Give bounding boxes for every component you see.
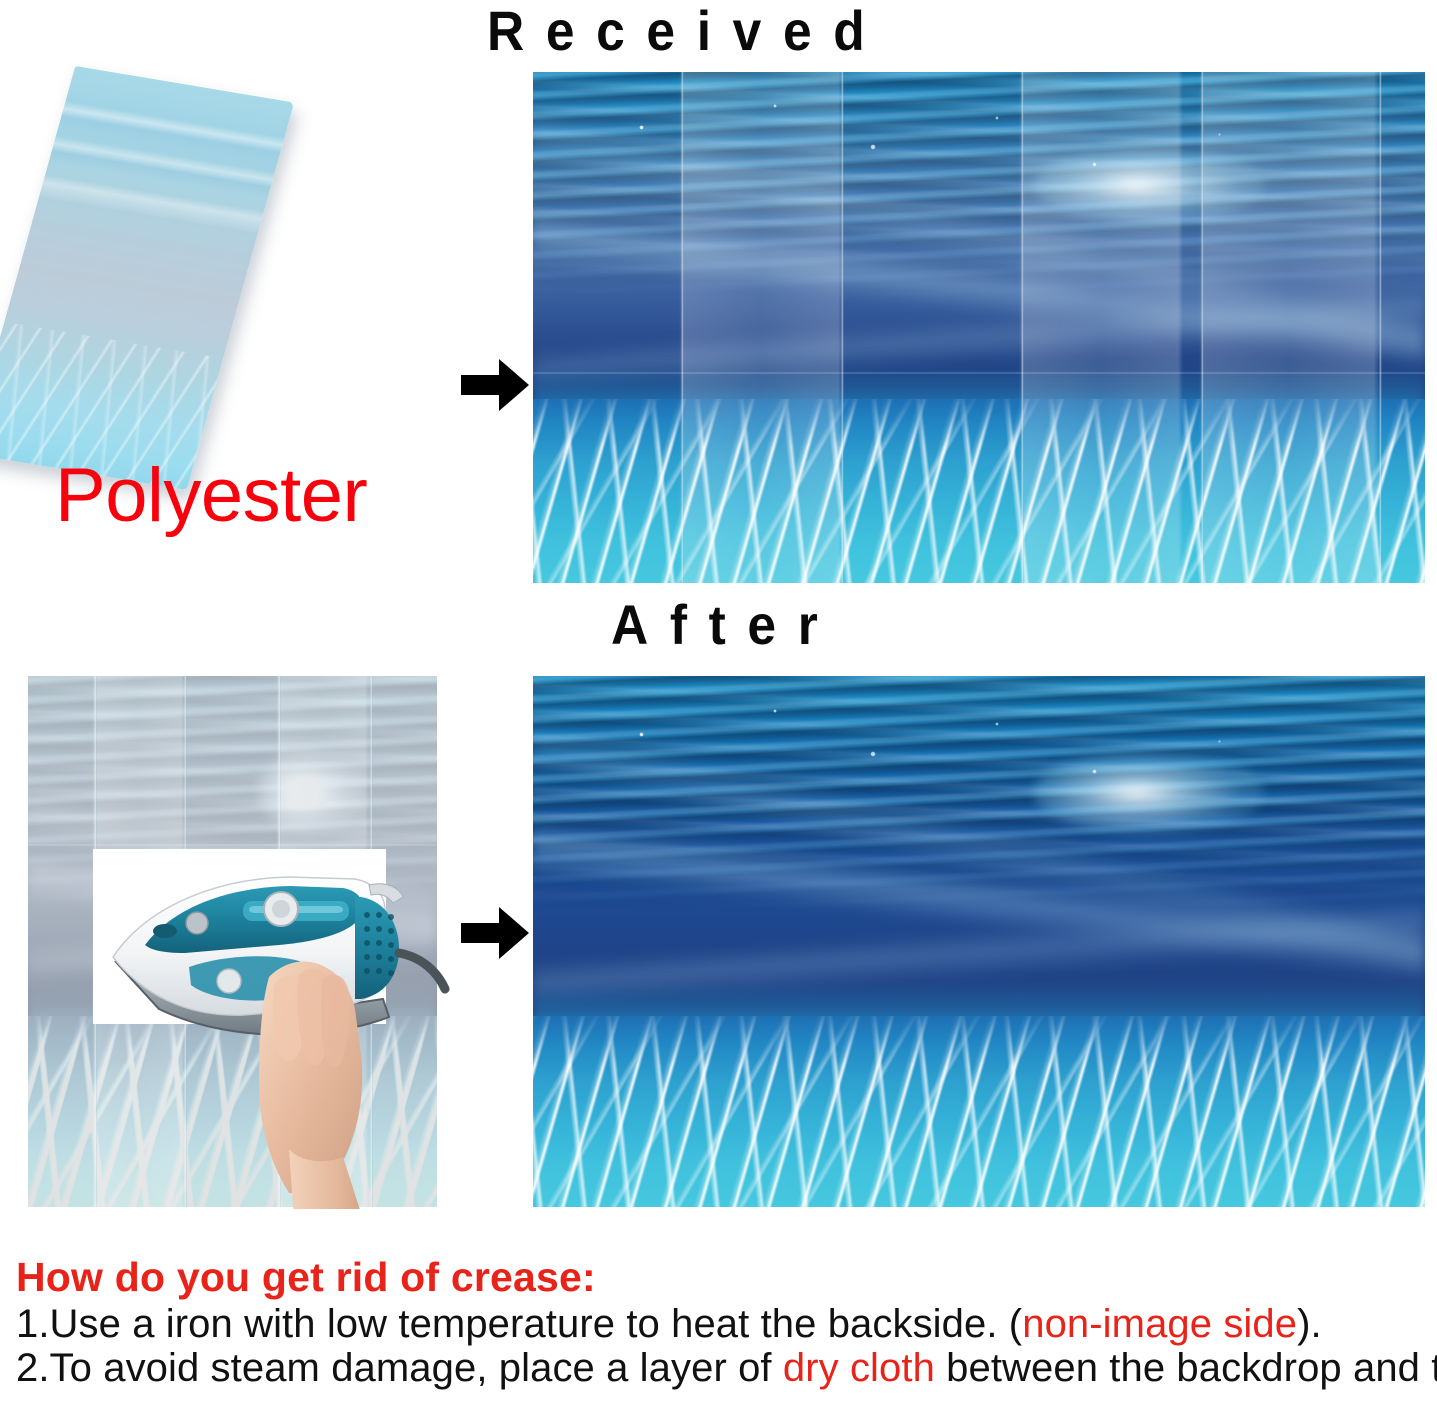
arrow-right-icon (461, 357, 529, 418)
heading-received: Received (487, 0, 886, 64)
instructions-heading: How do you get rid of crease: (16, 1252, 1428, 1302)
care-instructions: How do you get rid of crease: 1.Use a ir… (16, 1252, 1428, 1390)
received-backdrop-photo (533, 72, 1425, 583)
caustic-light-pattern (533, 399, 1425, 583)
instruction-line-2: 2.To avoid steam damage, place a layer o… (16, 1346, 1428, 1390)
bubbles (533, 687, 1425, 942)
polyester-fabric-swatch (0, 66, 294, 490)
instruction-2-text-a: 2.To avoid steam damage, place a layer o… (16, 1346, 783, 1390)
underwater-scene (533, 72, 1425, 583)
instruction-1-highlight: non-image side (1022, 1302, 1297, 1346)
caustic-light-pattern (533, 1016, 1425, 1207)
polyester-label: Polyester (55, 455, 367, 537)
instruction-1-text-b: ). (1297, 1302, 1322, 1346)
after-backdrop-photo (533, 676, 1425, 1207)
instruction-1-text-a: 1.Use a iron with low temperature to hea… (16, 1302, 1022, 1346)
instruction-2-highlight: dry cloth (783, 1346, 935, 1390)
instruction-2-text-b: between the backdrop and the iron. (935, 1346, 1437, 1390)
arrow-right-icon (461, 905, 529, 966)
heading-after: After (611, 592, 839, 658)
instruction-line-1: 1.Use a iron with low temperature to hea… (16, 1302, 1428, 1346)
ironing-demo-photo (93, 849, 386, 1024)
underwater-scene (533, 676, 1425, 1207)
bubbles (533, 82, 1425, 327)
